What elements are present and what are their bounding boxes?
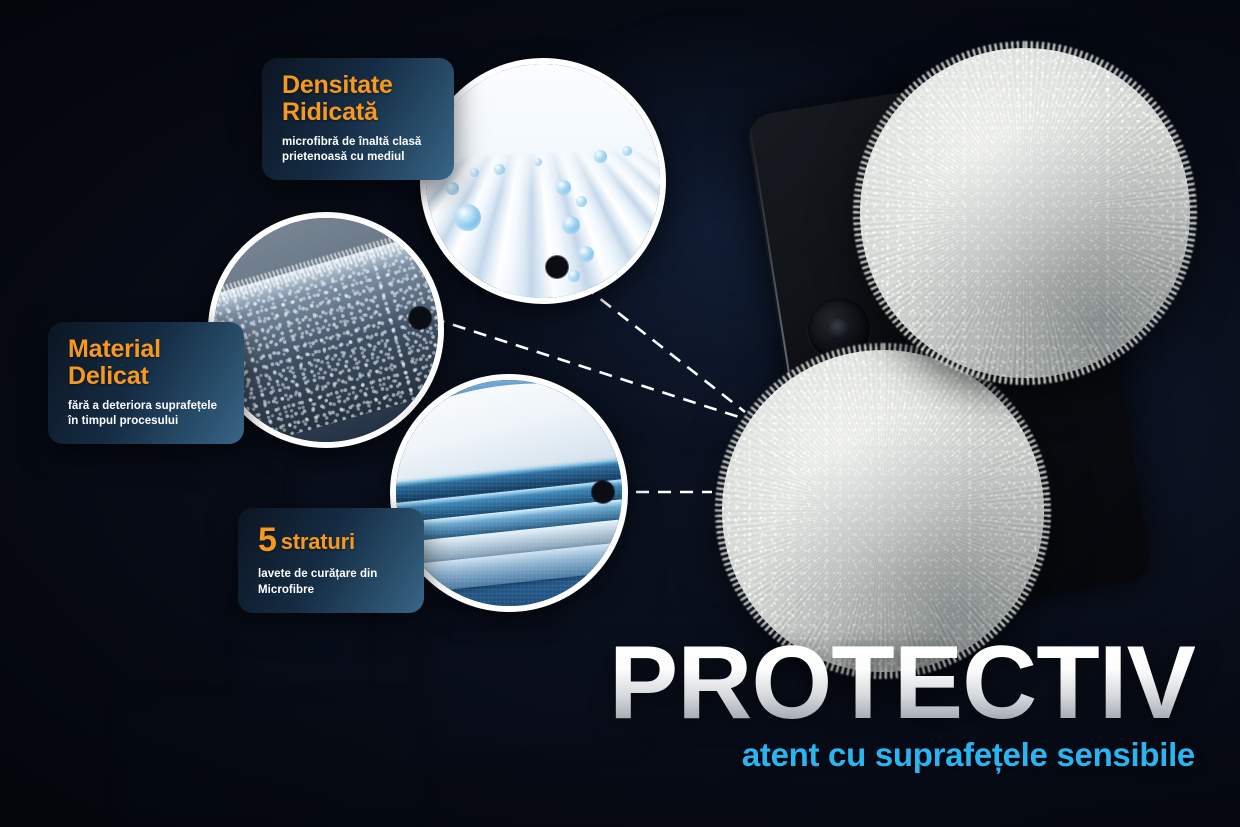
water-droplet: [576, 196, 587, 207]
feature-title: Densitate Ridicată: [282, 72, 436, 126]
feature-panel-gentle-material[interactable]: Material Delicat fără a deteriora supraf…: [48, 322, 244, 444]
mesh-overlay: [396, 380, 622, 606]
bright-haze: [426, 64, 660, 195]
water-droplet: [594, 150, 607, 163]
water-droplet: [568, 270, 580, 282]
headline-block: PROTECTIV atent cu suprafețele sensibile: [575, 636, 1195, 774]
water-droplet: [578, 246, 594, 262]
page-title: PROTECTIV: [575, 636, 1195, 732]
water-droplet: [446, 182, 459, 195]
callout-image-microfiber-ridges-with-water-droplets: [420, 58, 666, 304]
callout-marker-gentle-material: [409, 307, 431, 329]
layer-count: 5: [258, 521, 277, 559]
feature-panel-density[interactable]: Densitate Ridicată microfibră de înaltă …: [262, 58, 454, 180]
layer-word: straturi: [281, 529, 355, 554]
water-droplet: [556, 180, 571, 195]
feature-panel-five-layers[interactable]: 5straturi lavete de curățare din Microfi…: [238, 508, 424, 613]
water-droplet: [562, 216, 580, 234]
feature-subtitle: microfibră de înaltă clasă prietenoasă c…: [282, 135, 436, 167]
page-tagline: atent cu suprafețele sensibile: [575, 736, 1195, 774]
feature-title: Material Delicat: [68, 336, 226, 390]
feature-subtitle: fără a deteriora suprafețele în timpul p…: [68, 399, 226, 431]
water-droplet: [534, 158, 542, 166]
infographic-canvas: Densitate Ridicată microfibră de înaltă …: [0, 0, 1240, 827]
feature-subtitle: lavete de curățare din Microfibre: [258, 567, 406, 599]
feature-title: 5straturi: [258, 522, 406, 558]
water-droplet: [454, 204, 481, 231]
water-droplet: [470, 168, 479, 177]
water-droplet: [494, 164, 505, 175]
callout-marker-five-layers: [592, 481, 614, 503]
callout-marker-density: [546, 256, 568, 278]
water-droplet: [622, 146, 632, 156]
